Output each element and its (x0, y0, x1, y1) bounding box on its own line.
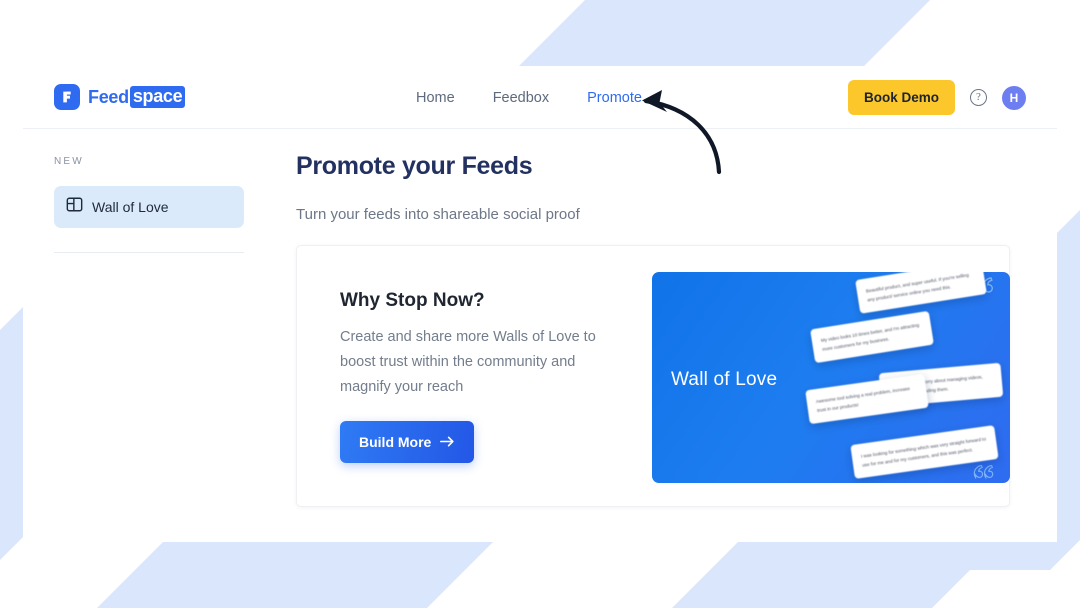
top-navigation-bar: Feedspace Home Feedbox Promote Book Demo… (23, 66, 1057, 129)
avatar[interactable]: H (1002, 86, 1026, 110)
app-window: Feedspace Home Feedbox Promote Book Demo… (23, 66, 1057, 542)
wall-preview-title: Wall of Love (671, 369, 777, 391)
promo-card-text: Why Stop Now? Create and share more Wall… (297, 290, 652, 463)
feedspace-f-logo-icon (54, 84, 80, 110)
page-title: Promote your Feeds (296, 152, 1057, 181)
build-more-label: Build More (359, 434, 431, 450)
brand-wordmark: Feedspace (88, 86, 185, 108)
question-mark-circle-icon[interactable]: ? (970, 89, 987, 106)
sidebar-item-wall-of-love[interactable]: Wall of Love (54, 186, 244, 228)
testimonial-card: My video looks 10 times better, and I'm … (810, 311, 934, 363)
nav-link-home[interactable]: Home (416, 90, 455, 106)
arrow-right-icon (440, 434, 455, 450)
testimonial-card: Beautiful product, and super useful. If … (855, 272, 987, 314)
brand-word-feed: Feed (88, 87, 129, 108)
sidebar-section-label: NEW (54, 156, 243, 167)
nav-links: Home Feedbox Promote (416, 66, 642, 129)
sidebar: NEW Wall of Love (23, 129, 243, 542)
nav-link-promote[interactable]: Promote (587, 90, 642, 106)
wall-of-love-preview[interactable]: Wall of Love Beautiful product, (652, 272, 1010, 483)
page-subtitle: Turn your feeds into shareable social pr… (296, 206, 1057, 223)
build-more-button[interactable]: Build More (340, 421, 474, 463)
layout-panel-icon (66, 196, 83, 218)
body-area: NEW Wall of Love Promote your Feeds Turn… (23, 129, 1057, 542)
brand-word-space: space (130, 86, 186, 108)
sidebar-divider (54, 252, 244, 253)
main-content: Promote your Feeds Turn your feeds into … (243, 129, 1057, 542)
promo-card: Why Stop Now? Create and share more Wall… (296, 245, 1010, 507)
testimonial-card: Awesome tool solving a real problem, inc… (805, 374, 929, 424)
brand-logo[interactable]: Feedspace (54, 84, 185, 110)
sidebar-item-label: Wall of Love (92, 199, 169, 215)
promo-heading: Why Stop Now? (340, 290, 652, 312)
nav-link-feedbox[interactable]: Feedbox (493, 90, 549, 106)
book-demo-button[interactable]: Book Demo (848, 80, 955, 115)
nav-right-actions: Book Demo ? H (848, 66, 1026, 129)
promo-body-text: Create and share more Walls of Love to b… (340, 325, 605, 400)
